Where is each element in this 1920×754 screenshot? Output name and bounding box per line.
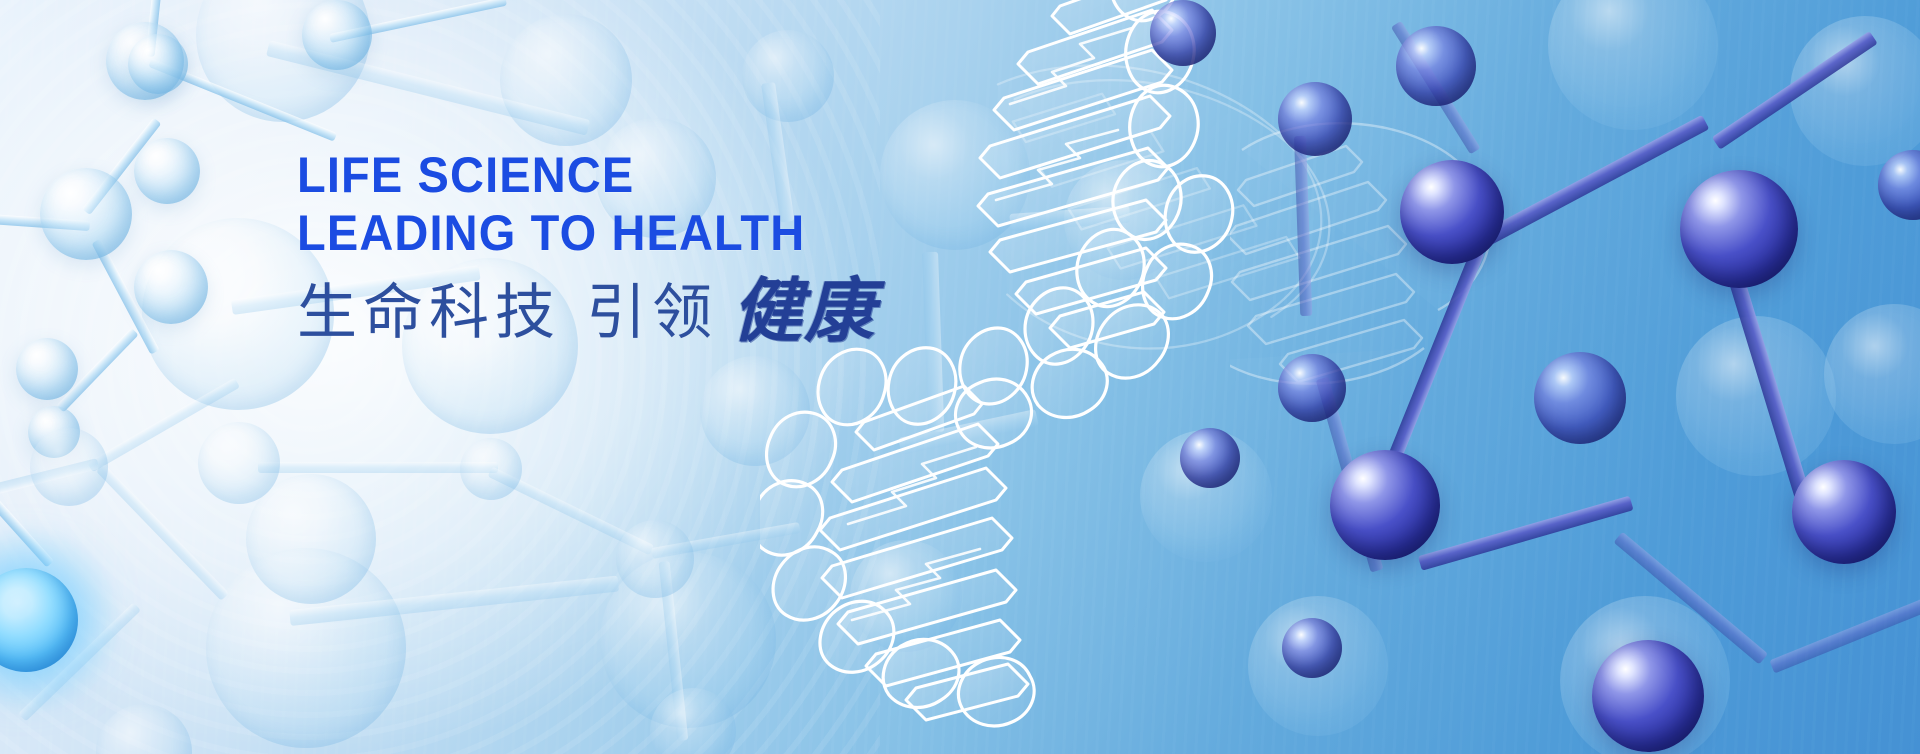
atom-sphere (1180, 428, 1240, 488)
molecular-bond (488, 467, 655, 556)
molecular-bond (1712, 31, 1878, 150)
molecular-bond (0, 212, 90, 231)
atom-sphere (1140, 430, 1272, 562)
molecular-bond (18, 602, 141, 721)
atom-sphere (1150, 0, 1216, 66)
molecular-bond (87, 378, 240, 473)
background-swirl-texture (0, 0, 880, 754)
atom-sphere (206, 548, 406, 748)
molecular-bond (1712, 224, 1818, 525)
atom-sphere (700, 356, 810, 466)
atom-sphere (302, 0, 372, 70)
atom-sphere (16, 338, 78, 400)
atom-sphere (500, 14, 632, 146)
glow-halo (0, 520, 126, 720)
dna-double-helix-secondary (1230, 30, 1650, 450)
atom-sphere (134, 250, 208, 324)
molecular-bond (96, 464, 229, 601)
atom-sphere (1680, 170, 1798, 288)
atom-sphere (1560, 596, 1730, 754)
atom-sphere (850, 540, 962, 652)
molecular-bond (82, 118, 161, 216)
molecular-bond (1316, 377, 1384, 573)
atom-sphere (1400, 160, 1504, 264)
atom-sphere (96, 704, 192, 754)
background-streak-texture (0, 0, 1920, 754)
headline-line-2: LEADING TO HEALTH (297, 204, 841, 262)
molecular-bond (651, 522, 801, 559)
atom-sphere (1278, 82, 1352, 156)
molecular-bond (148, 58, 337, 141)
atom-sphere (1278, 354, 1346, 422)
atom-sphere (1282, 618, 1342, 678)
subheadline-calligraphy: 健康 (732, 276, 876, 346)
atom-sphere (1248, 596, 1388, 736)
atom-sphere (28, 406, 80, 458)
atom-sphere (128, 34, 188, 94)
molecular-bond (1418, 496, 1634, 571)
atom-sphere (1064, 160, 1184, 280)
atom-sphere (30, 428, 108, 506)
molecular-bond (922, 252, 944, 432)
atom-sphere (1878, 150, 1920, 220)
molecular-bond (329, 0, 507, 43)
atom-sphere (134, 138, 200, 204)
molecular-bond (0, 458, 99, 498)
molecular-bond (898, 409, 1038, 455)
atom-sphere (616, 520, 694, 598)
molecular-bond (56, 328, 138, 413)
atom-sphere (880, 100, 1030, 250)
atom-sphere (246, 474, 376, 604)
atom-sphere (1396, 26, 1476, 106)
molecular-bond (1472, 115, 1709, 251)
molecular-bond (266, 40, 590, 135)
molecules-right-layer (0, 0, 1920, 754)
atom-sphere (742, 30, 834, 122)
headline-line-1: LIFE SCIENCE (297, 146, 841, 204)
atom-sphere (1592, 640, 1704, 752)
atom-sphere (1676, 316, 1836, 476)
atom-sphere (196, 0, 370, 122)
subheadline-row: 生命科技 引领 健康 (297, 276, 876, 346)
atom-sphere (1792, 460, 1896, 564)
molecular-bond (659, 561, 689, 741)
molecules-left-layer (0, 0, 1920, 754)
molecular-bond (1769, 593, 1920, 673)
glow-atom-sphere (0, 568, 78, 672)
life-science-banner: LIFE SCIENCE LEADING TO HEALTH 生命科技 引领 健… (0, 0, 1920, 754)
molecular-bond (258, 462, 498, 473)
atom-sphere (1548, 0, 1718, 130)
atom-sphere (1330, 450, 1440, 560)
atom-sphere (1790, 16, 1920, 166)
dna-double-helix (760, 0, 1460, 754)
atom-sphere (1824, 304, 1920, 444)
molecular-bond (1294, 136, 1312, 316)
molecular-bond (1385, 248, 1484, 466)
atom-sphere (1534, 352, 1626, 444)
atom-sphere (198, 422, 280, 504)
molecular-bond (146, 0, 176, 57)
molecular-bond (1009, 206, 1130, 231)
molecular-bond (1614, 532, 1769, 665)
atom-sphere (600, 552, 776, 728)
atom-sphere (650, 688, 736, 754)
molecular-bond (92, 239, 160, 355)
molecular-bond (289, 576, 619, 626)
headline-block: LIFE SCIENCE LEADING TO HEALTH 生命科技 引领 健… (297, 146, 876, 346)
atom-sphere (460, 438, 522, 500)
molecular-bond (1391, 21, 1481, 155)
molecular-bond (0, 472, 54, 568)
atom-sphere (106, 22, 184, 100)
subheadline-plain: 生命科技 引领 (297, 280, 718, 346)
atom-sphere (40, 168, 132, 260)
